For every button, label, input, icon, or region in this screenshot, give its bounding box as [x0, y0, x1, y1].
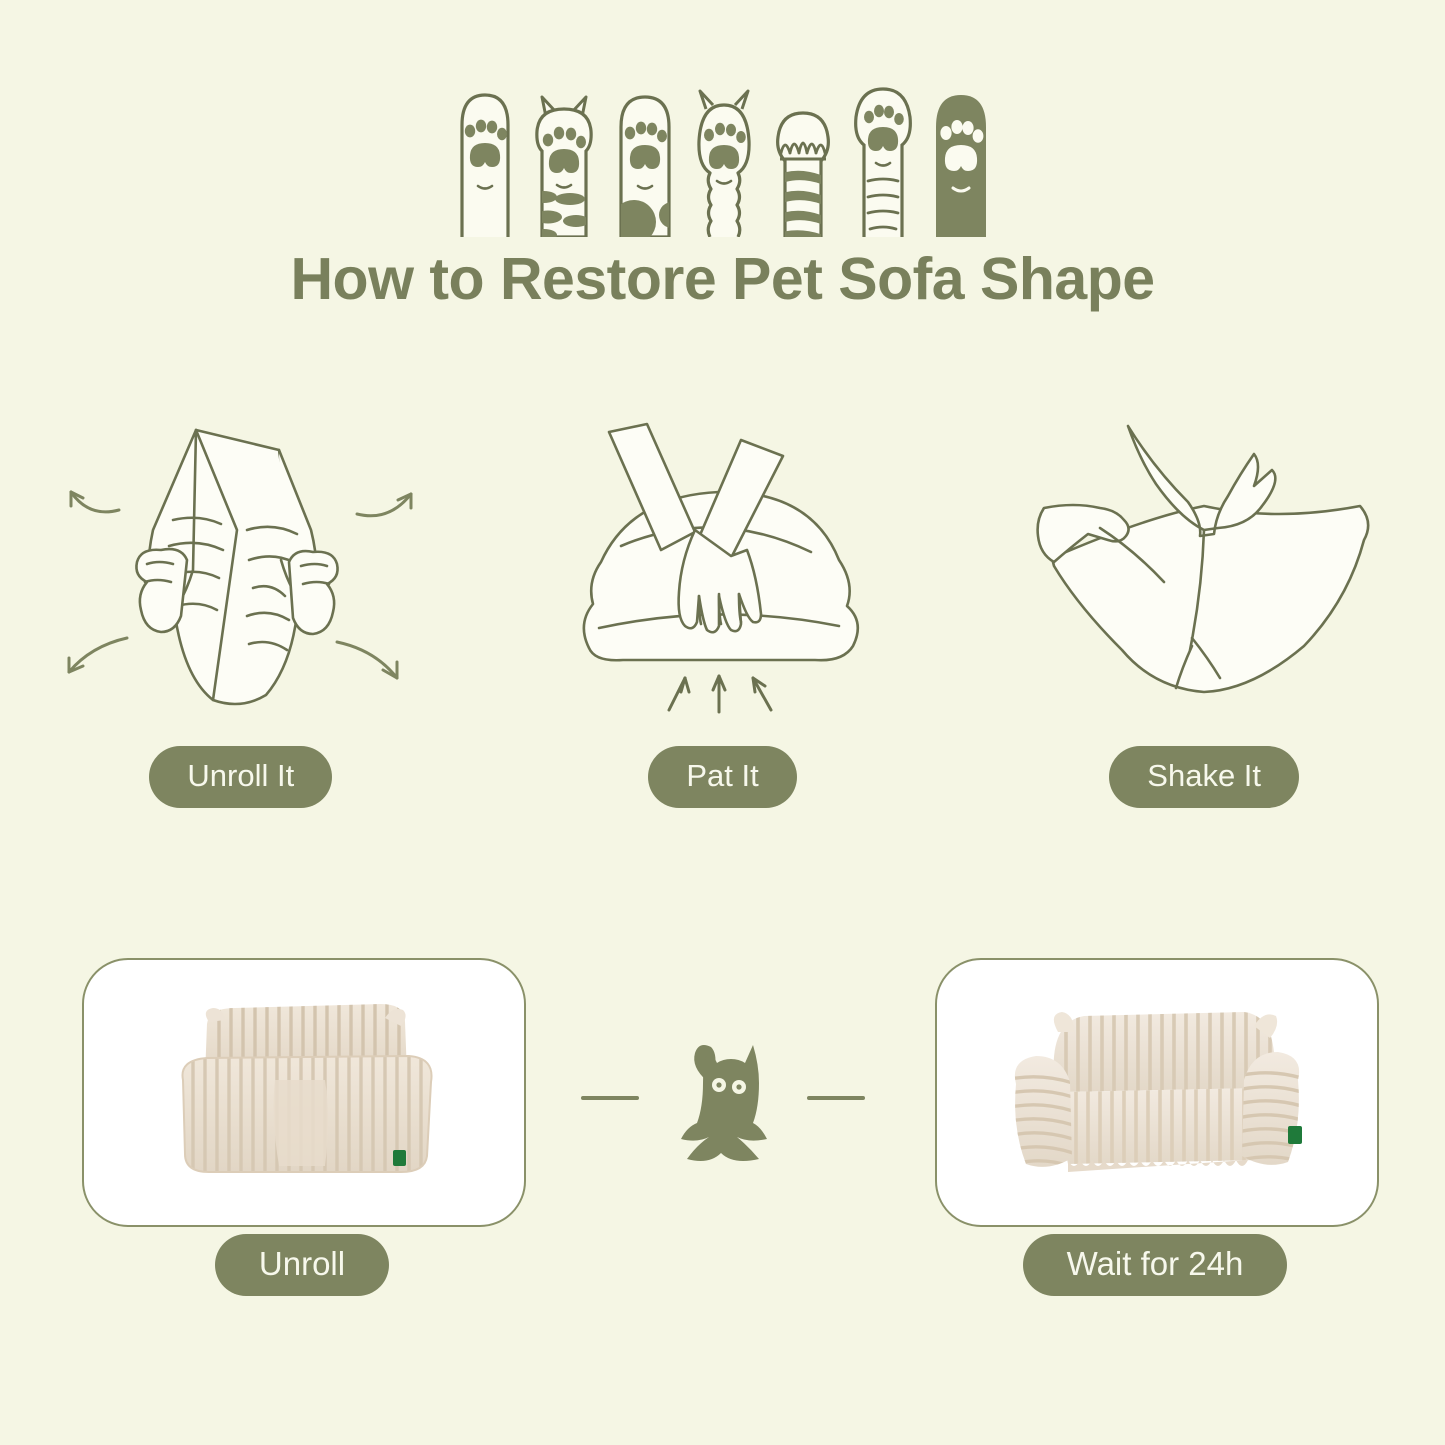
step-shake-it: Shake It — [963, 410, 1445, 830]
paw-solid-icon — [928, 87, 994, 237]
divider-cat-group — [548, 1013, 898, 1183]
arrow-out-top-left — [71, 492, 119, 512]
page-title: How to Restore Pet Sofa Shape — [0, 247, 1445, 312]
label-wait-24h: Wait for 24h — [1023, 1234, 1288, 1296]
brand-tag — [393, 1150, 406, 1166]
paw-spotted-icon — [610, 87, 680, 237]
compare-label-after: Wait for 24h — [935, 1234, 1375, 1296]
expanded-pet-sofa-photo — [935, 958, 1379, 1227]
compressed-pet-bed-photo — [82, 958, 526, 1227]
paw-tall-striped-icon — [844, 87, 922, 237]
hands-shaking-bed-illustration — [1004, 410, 1404, 740]
hands-unrolling-bed-illustration — [41, 410, 441, 740]
label-unroll: Unroll — [215, 1234, 389, 1296]
arrow-out-bottom-right — [337, 642, 397, 678]
arrow-up-right — [753, 678, 771, 710]
compare-label-before: Unroll — [82, 1234, 522, 1296]
arrow-up-left — [669, 678, 689, 710]
cat-silhouette-icon — [663, 1023, 783, 1173]
steps-row: Unroll It — [0, 410, 1445, 830]
before-after-compare: Unroll Wait for 24h — [0, 958, 1445, 1288]
paw-mitten-icon — [768, 87, 838, 237]
paw-tiger-icon — [524, 87, 604, 237]
paw-fluffy-icon — [686, 87, 762, 237]
hands-patting-bed-illustration — [543, 410, 903, 740]
brand-tag — [1288, 1126, 1302, 1144]
step-pat-it: Pat It — [482, 410, 964, 830]
step-label-unroll-it: Unroll It — [149, 746, 332, 808]
divider-dash-left — [581, 1096, 639, 1100]
arrow-out-top-right — [357, 494, 411, 516]
paw-plain-icon — [452, 87, 518, 237]
step-label-pat-it: Pat It — [648, 746, 796, 808]
cat-paws-banner — [0, 62, 1445, 237]
arrow-up-center — [713, 676, 725, 712]
divider-dash-right — [807, 1096, 865, 1100]
infographic-page: How to Restore Pet Sofa Shape — [0, 0, 1445, 1445]
arrow-out-bottom-left — [69, 638, 127, 672]
step-label-shake-it: Shake It — [1109, 746, 1299, 808]
step-unroll-it: Unroll It — [0, 410, 482, 830]
